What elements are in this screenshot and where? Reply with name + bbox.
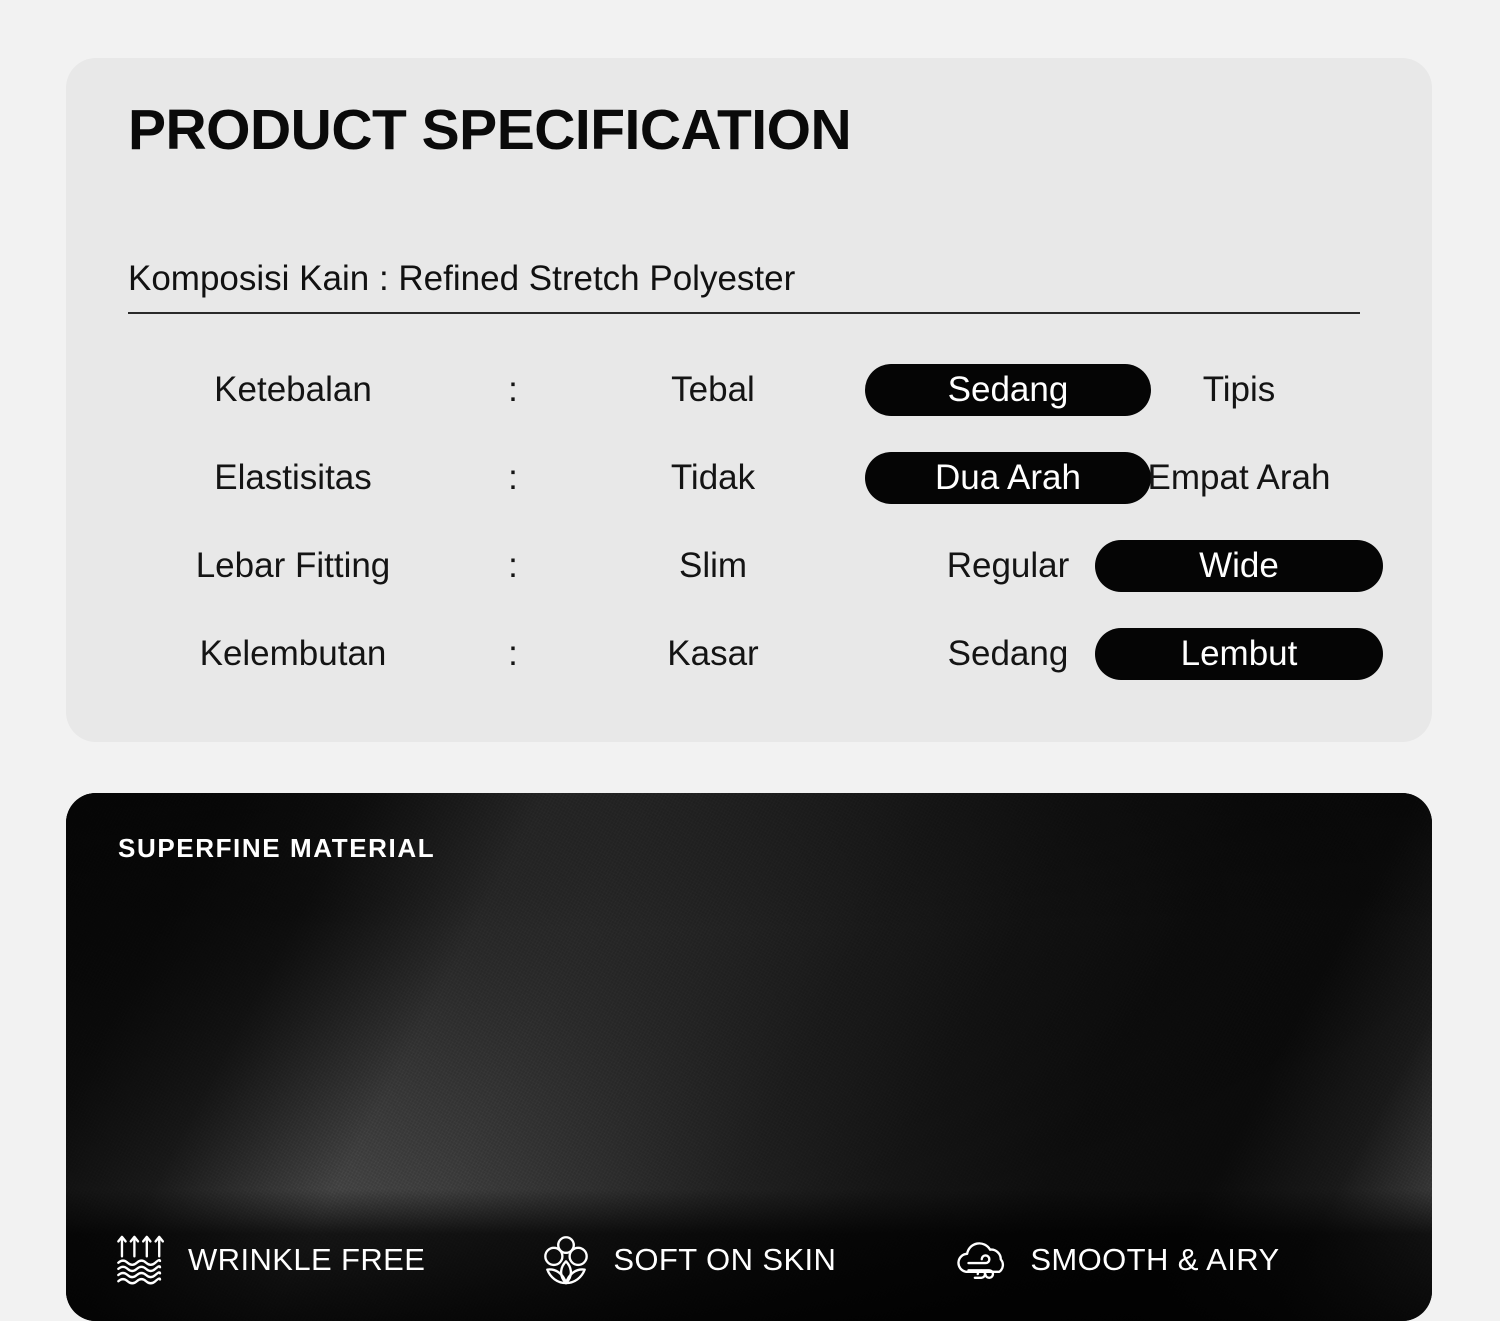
cloud-wind-icon xyxy=(954,1231,1012,1289)
spec-row-label: Lebar Fitting xyxy=(128,522,458,610)
spec-row-colon: : xyxy=(458,610,568,698)
spec-row-colon: : xyxy=(458,522,568,610)
feature-item: WRINKLE FREE xyxy=(112,1231,425,1289)
spec-option-2[interactable]: Tipis xyxy=(1095,346,1383,434)
divider xyxy=(128,312,1360,314)
product-specification-card: PRODUCT SPECIFICATION Komposisi Kain : R… xyxy=(66,58,1432,742)
spec-option-label: Tebal xyxy=(671,370,755,410)
spec-option-label: Slim xyxy=(679,546,747,586)
superfine-material-card: SUPERFINE MATERIAL WRINKLE FREE xyxy=(66,793,1432,1321)
page-title: PRODUCT SPECIFICATION xyxy=(128,102,851,159)
spec-option-label: Empat Arah xyxy=(1148,458,1331,498)
spec-option-selected-pill: Lembut xyxy=(1095,628,1383,680)
spec-option-2[interactable]: Empat Arah xyxy=(1095,434,1383,522)
specification-table: Ketebalan : Tebal Sedang Tipis Elastisit… xyxy=(66,346,1432,698)
spec-row: Kelembutan : Kasar Sedang Lembut xyxy=(66,610,1432,698)
spec-row: Lebar Fitting : Slim Regular Wide xyxy=(66,522,1432,610)
fabric-composition: Komposisi Kain : Refined Stretch Polyest… xyxy=(128,256,1360,314)
spec-row: Elastisitas : Tidak Dua Arah Empat Arah xyxy=(66,434,1432,522)
cotton-flower-icon xyxy=(537,1231,595,1289)
spec-row: Ketebalan : Tebal Sedang Tipis xyxy=(66,346,1432,434)
spec-row-label: Ketebalan xyxy=(128,346,458,434)
spec-option-selected-pill: Wide xyxy=(1095,540,1383,592)
feature-label: SMOOTH & AIRY xyxy=(1030,1242,1279,1278)
spec-option-label: Kasar xyxy=(667,634,758,674)
spec-row-label: Kelembutan xyxy=(128,610,458,698)
feature-label: SOFT ON SKIN xyxy=(613,1242,836,1278)
spec-row-label: Elastisitas xyxy=(128,434,458,522)
wrinkle-free-icon xyxy=(112,1231,170,1289)
spec-option-label: Sedang xyxy=(948,634,1069,674)
fabric-composition-text: Komposisi Kain : Refined Stretch Polyest… xyxy=(128,256,1360,312)
material-card-title: SUPERFINE MATERIAL xyxy=(118,833,435,864)
spec-option-2[interactable]: Lembut xyxy=(1095,610,1383,698)
feature-item: SMOOTH & AIRY xyxy=(954,1231,1279,1289)
spec-row-colon: : xyxy=(458,346,568,434)
spec-option-label: Tidak xyxy=(671,458,755,498)
feature-item: SOFT ON SKIN xyxy=(537,1231,836,1289)
spec-option-2[interactable]: Wide xyxy=(1095,522,1383,610)
spec-row-colon: : xyxy=(458,434,568,522)
spec-option-label: Tipis xyxy=(1203,370,1276,410)
spec-option-label: Regular xyxy=(947,546,1070,586)
feature-label: WRINKLE FREE xyxy=(188,1242,425,1278)
feature-strip: WRINKLE FREE SOFT ON SKIN xyxy=(66,1221,1432,1299)
